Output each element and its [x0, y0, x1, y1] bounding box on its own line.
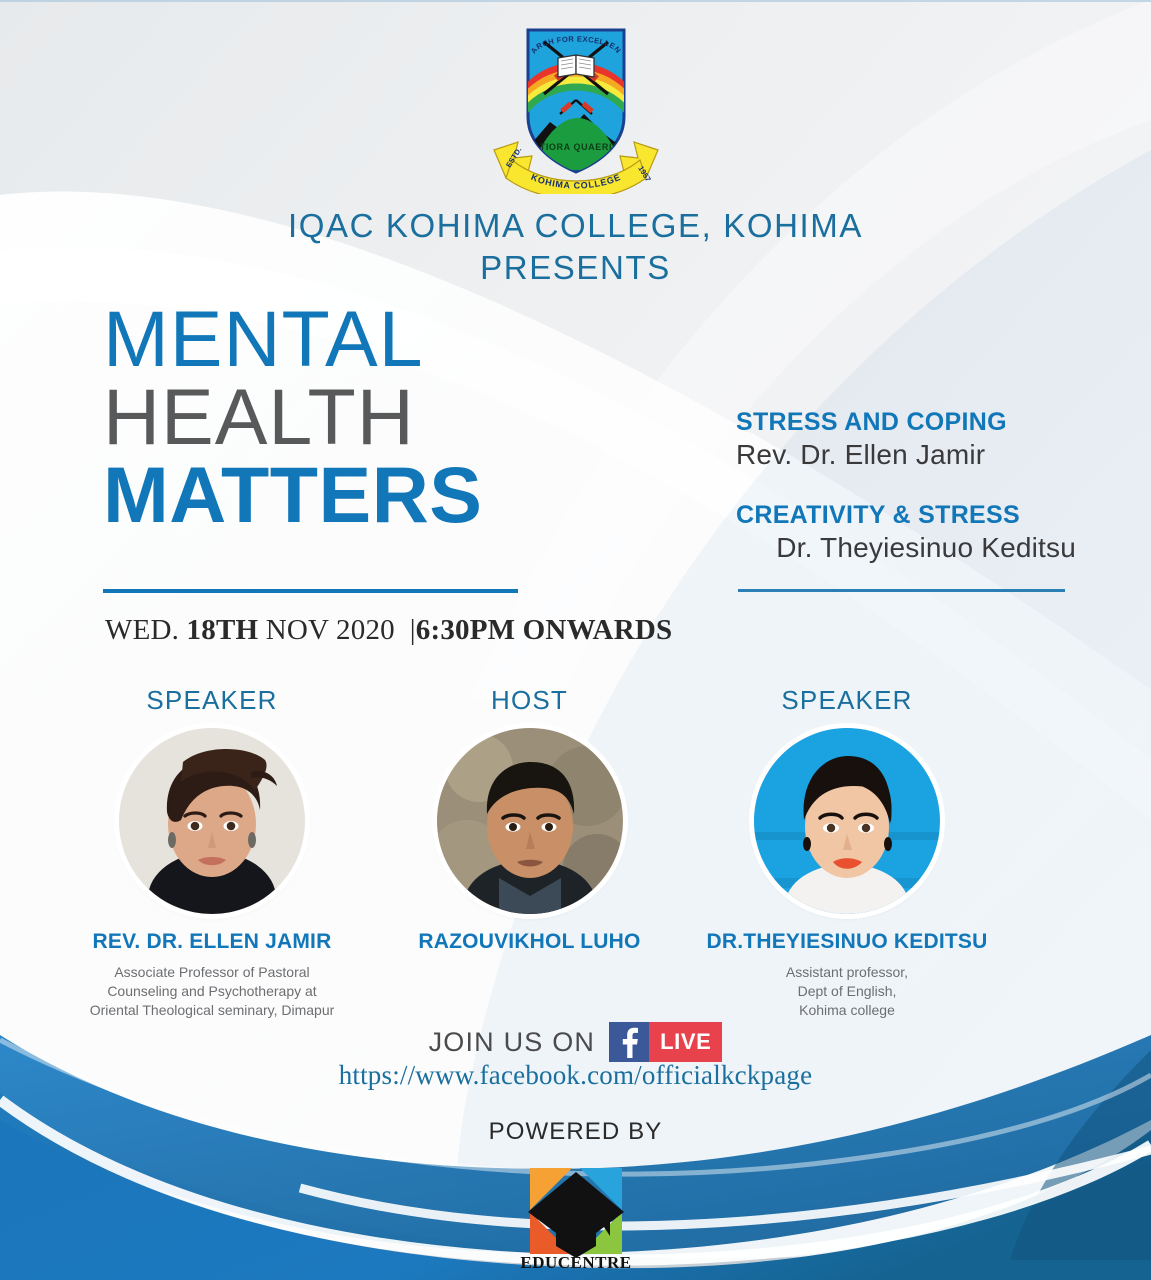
college-crest: ALTIORA QUAERITE SEARCH FOR EXCELLENCE K…: [0, 22, 1151, 194]
portrait-theyiesinuo-keditsu-icon: [754, 728, 940, 914]
person-card: SPEAKER: [697, 685, 997, 1020]
people-row: SPEAKER: [62, 685, 997, 1020]
facebook-f-icon[interactable]: [609, 1022, 649, 1062]
event-datetime: WED. 18TH NOV 2020 |6:30PM ONWARDS: [105, 614, 672, 647]
event-day: WED.: [105, 614, 179, 646]
event-time: 6:30PM ONWARDS: [416, 614, 673, 646]
portrait-ellen-jamir-icon: [119, 728, 305, 914]
event-date: 18TH: [187, 614, 259, 646]
topic-speaker: Dr. Theyiesinuo Keditsu: [736, 532, 1076, 564]
sponsor-logo: EDUCENTRE: [0, 1150, 1151, 1272]
person-card: SPEAKER: [62, 685, 362, 1020]
broadcast-row: JOIN US ON LIVE: [0, 1022, 1151, 1062]
title-line-matters: MATTERS: [103, 456, 573, 534]
live-label[interactable]: LIVE: [649, 1022, 722, 1062]
topic-list: STRESS AND COPING Rev. Dr. Ellen Jamir C…: [736, 408, 1076, 564]
kohima-college-crest-icon: ALTIORA QUAERITE SEARCH FOR EXCELLENCE K…: [488, 22, 664, 194]
organizer-heading: IQAC KOHIMA COLLEGE, KOHIMA PRESENTS: [0, 205, 1151, 289]
facebook-live-badge[interactable]: LIVE: [609, 1022, 722, 1062]
person-name: RAZOUVIKHOL LUHO: [380, 930, 680, 954]
topic-speaker: Rev. Dr. Ellen Jamir: [736, 439, 1076, 471]
facebook-f-glyph: [617, 1026, 641, 1058]
facebook-url[interactable]: https://www.facebook.com/officialkckpage: [0, 1060, 1151, 1091]
person-description: Assistant professor,Dept of English,Kohi…: [697, 963, 997, 1020]
topic-item: STRESS AND COPING Rev. Dr. Ellen Jamir: [736, 408, 1076, 471]
person-card: HOST: [380, 685, 680, 963]
event-month-year: NOV 2020: [266, 614, 395, 646]
person-name: DR.THEYIESINUO KEDITSU: [697, 930, 997, 954]
poster-root: ALTIORA QUAERITE SEARCH FOR EXCELLENCE K…: [0, 0, 1151, 1280]
educentre-graduation-cap-icon: EDUCENTRE: [514, 1150, 638, 1272]
person-description: Associate Professor of PastoralCounselin…: [62, 963, 362, 1020]
person-role: SPEAKER: [62, 685, 362, 716]
person-photo: [119, 728, 305, 914]
person-photo: [437, 728, 623, 914]
poster-title: MENTAL HEALTH MATTERS: [103, 300, 573, 535]
topic-item: CREATIVITY & STRESS Dr. Theyiesinuo Kedi…: [736, 501, 1076, 564]
person-photo: [754, 728, 940, 914]
join-us-label: JOIN US ON: [429, 1027, 596, 1058]
title-line-mental: MENTAL: [103, 300, 573, 378]
person-role: SPEAKER: [697, 685, 997, 716]
topic-title: CREATIVITY & STRESS: [736, 501, 1076, 530]
title-underline: [103, 589, 518, 593]
powered-by-label: POWERED BY: [0, 1118, 1151, 1146]
portrait-razouvikhol-luho-icon: [437, 728, 623, 914]
svg-text:EDUCENTRE: EDUCENTRE: [520, 1253, 631, 1272]
topic-title: STRESS AND COPING: [736, 408, 1076, 437]
title-line-health: HEALTH: [103, 378, 573, 456]
organizer-line-2: PRESENTS: [0, 247, 1151, 289]
person-role: HOST: [380, 685, 680, 716]
topics-underline: [738, 589, 1065, 592]
person-name: REV. DR. ELLEN JAMIR: [62, 930, 362, 954]
organizer-line-1: IQAC KOHIMA COLLEGE, KOHIMA: [288, 207, 863, 244]
